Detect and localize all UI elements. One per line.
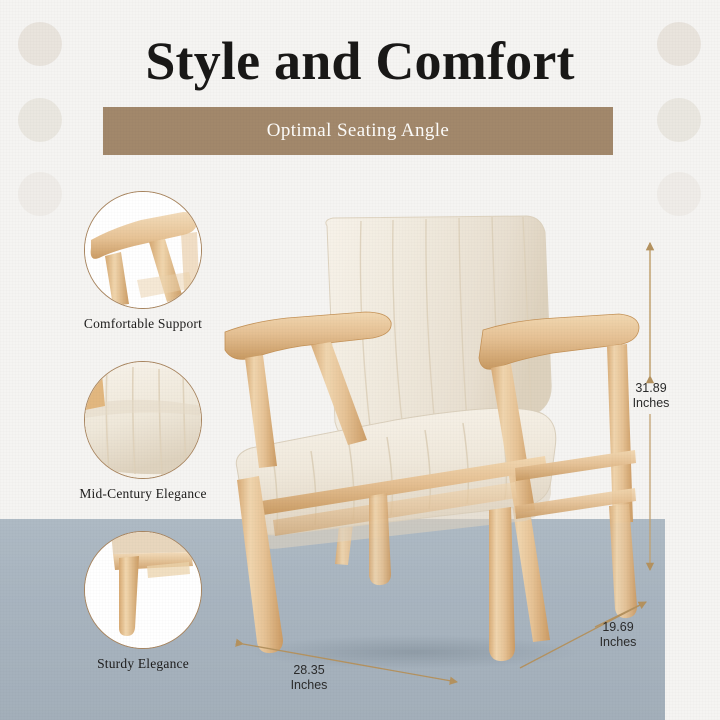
decorative-dot [18, 98, 62, 142]
product-image-chair [215, 210, 645, 670]
product-infographic: Style and Comfort Optimal Seating Angle [0, 0, 720, 720]
feature-label: Sturdy Elegance [58, 656, 228, 672]
feature-callout-mid-century-elegance: Mid-Century Elegance [58, 361, 228, 502]
feature-label: Mid-Century Elegance [58, 486, 228, 502]
feature-label: Comfortable Support [58, 316, 228, 332]
decorative-dot [657, 172, 701, 216]
feature-callout-sturdy-elegance: Sturdy Elegance [58, 531, 228, 672]
leg-detail-image [84, 531, 202, 649]
subtitle-text: Optimal Seating Angle [267, 120, 450, 142]
dimension-label-height: 31.89 Inches [622, 381, 680, 411]
armrest-detail-image [84, 191, 202, 309]
decorative-dot [657, 98, 701, 142]
subtitle-banner: Optimal Seating Angle [103, 107, 613, 155]
page-title: Style and Comfort [0, 30, 720, 92]
dimension-label-width: 28.35 Inches [273, 663, 345, 693]
decorative-dot [18, 172, 62, 216]
cushion-detail-image [84, 361, 202, 479]
feature-callout-comfortable-support: Comfortable Support [58, 191, 228, 332]
dimension-label-depth: 19.69 Inches [588, 620, 648, 650]
